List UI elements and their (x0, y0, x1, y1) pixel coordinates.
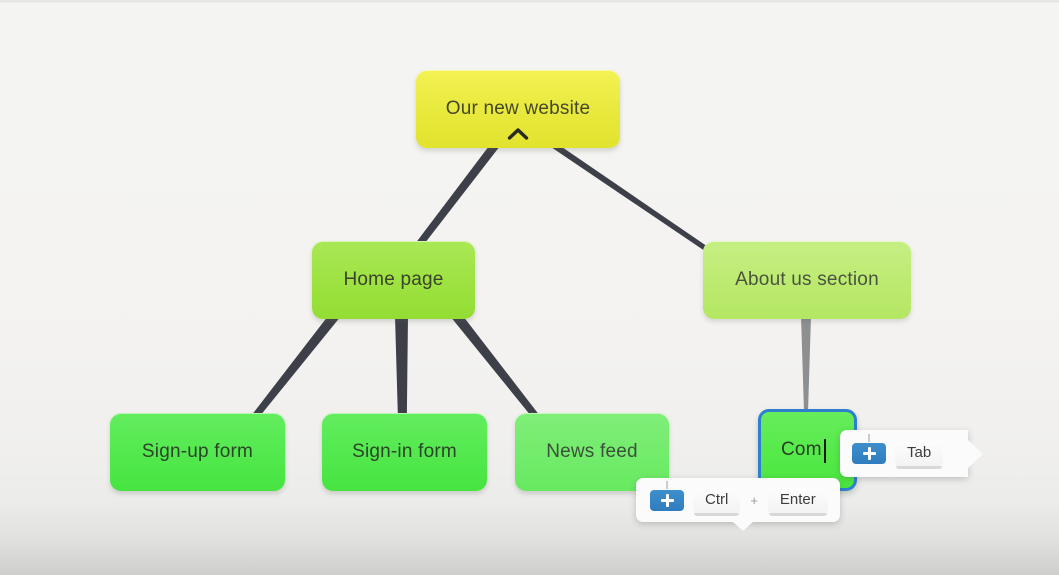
badge-tick (868, 434, 870, 442)
keycap-tab: Tab (895, 441, 943, 466)
hint-add-sibling-content: Ctrl + Enter (650, 488, 828, 513)
mindmap-node-root[interactable]: Our new website (416, 70, 620, 148)
chevron-up-icon[interactable] (507, 127, 529, 140)
mindmap-node-sign-up-form[interactable]: Sign-up form (110, 413, 285, 491)
plus-icon (852, 443, 886, 464)
mindmap-node-about-us-section-label: About us section (735, 270, 879, 291)
plus-icon (650, 490, 684, 511)
text-cursor (824, 439, 826, 463)
mindmap-node-about-us-section[interactable]: About us section (703, 241, 911, 319)
keycap-ctrl: Ctrl (693, 488, 740, 513)
mindmap-node-home-page-label: Home page (343, 270, 443, 291)
mindmap-node-news-feed-label: News feed (546, 442, 638, 463)
mindmap-node-sign-in-form-label: Sign-in form (352, 442, 457, 463)
mindmap-node-sign-in-form[interactable]: Sign-in form (322, 413, 487, 491)
mindmap-node-root-label: Our new website (446, 99, 591, 120)
badge-tick (666, 481, 668, 489)
hint-add-child: Tab (840, 430, 968, 477)
keycap-enter: Enter (768, 488, 828, 513)
hint-add-sibling: Ctrl + Enter (636, 478, 840, 522)
key-separator: + (749, 493, 759, 508)
mindmap-node-sign-up-form-label: Sign-up form (142, 442, 253, 463)
tooltip-tail-right (967, 439, 983, 469)
connector-about-us-to-new-node (801, 316, 811, 412)
mindmap-node-new-node-editing-input[interactable]: Com (781, 440, 822, 461)
tooltip-tail-down (732, 521, 754, 531)
hint-add-child-content: Tab (852, 441, 943, 466)
mindmap-node-home-page[interactable]: Home page (312, 241, 475, 319)
mindmap-canvas[interactable]: Our new website Home page About us secti… (0, 0, 1059, 575)
